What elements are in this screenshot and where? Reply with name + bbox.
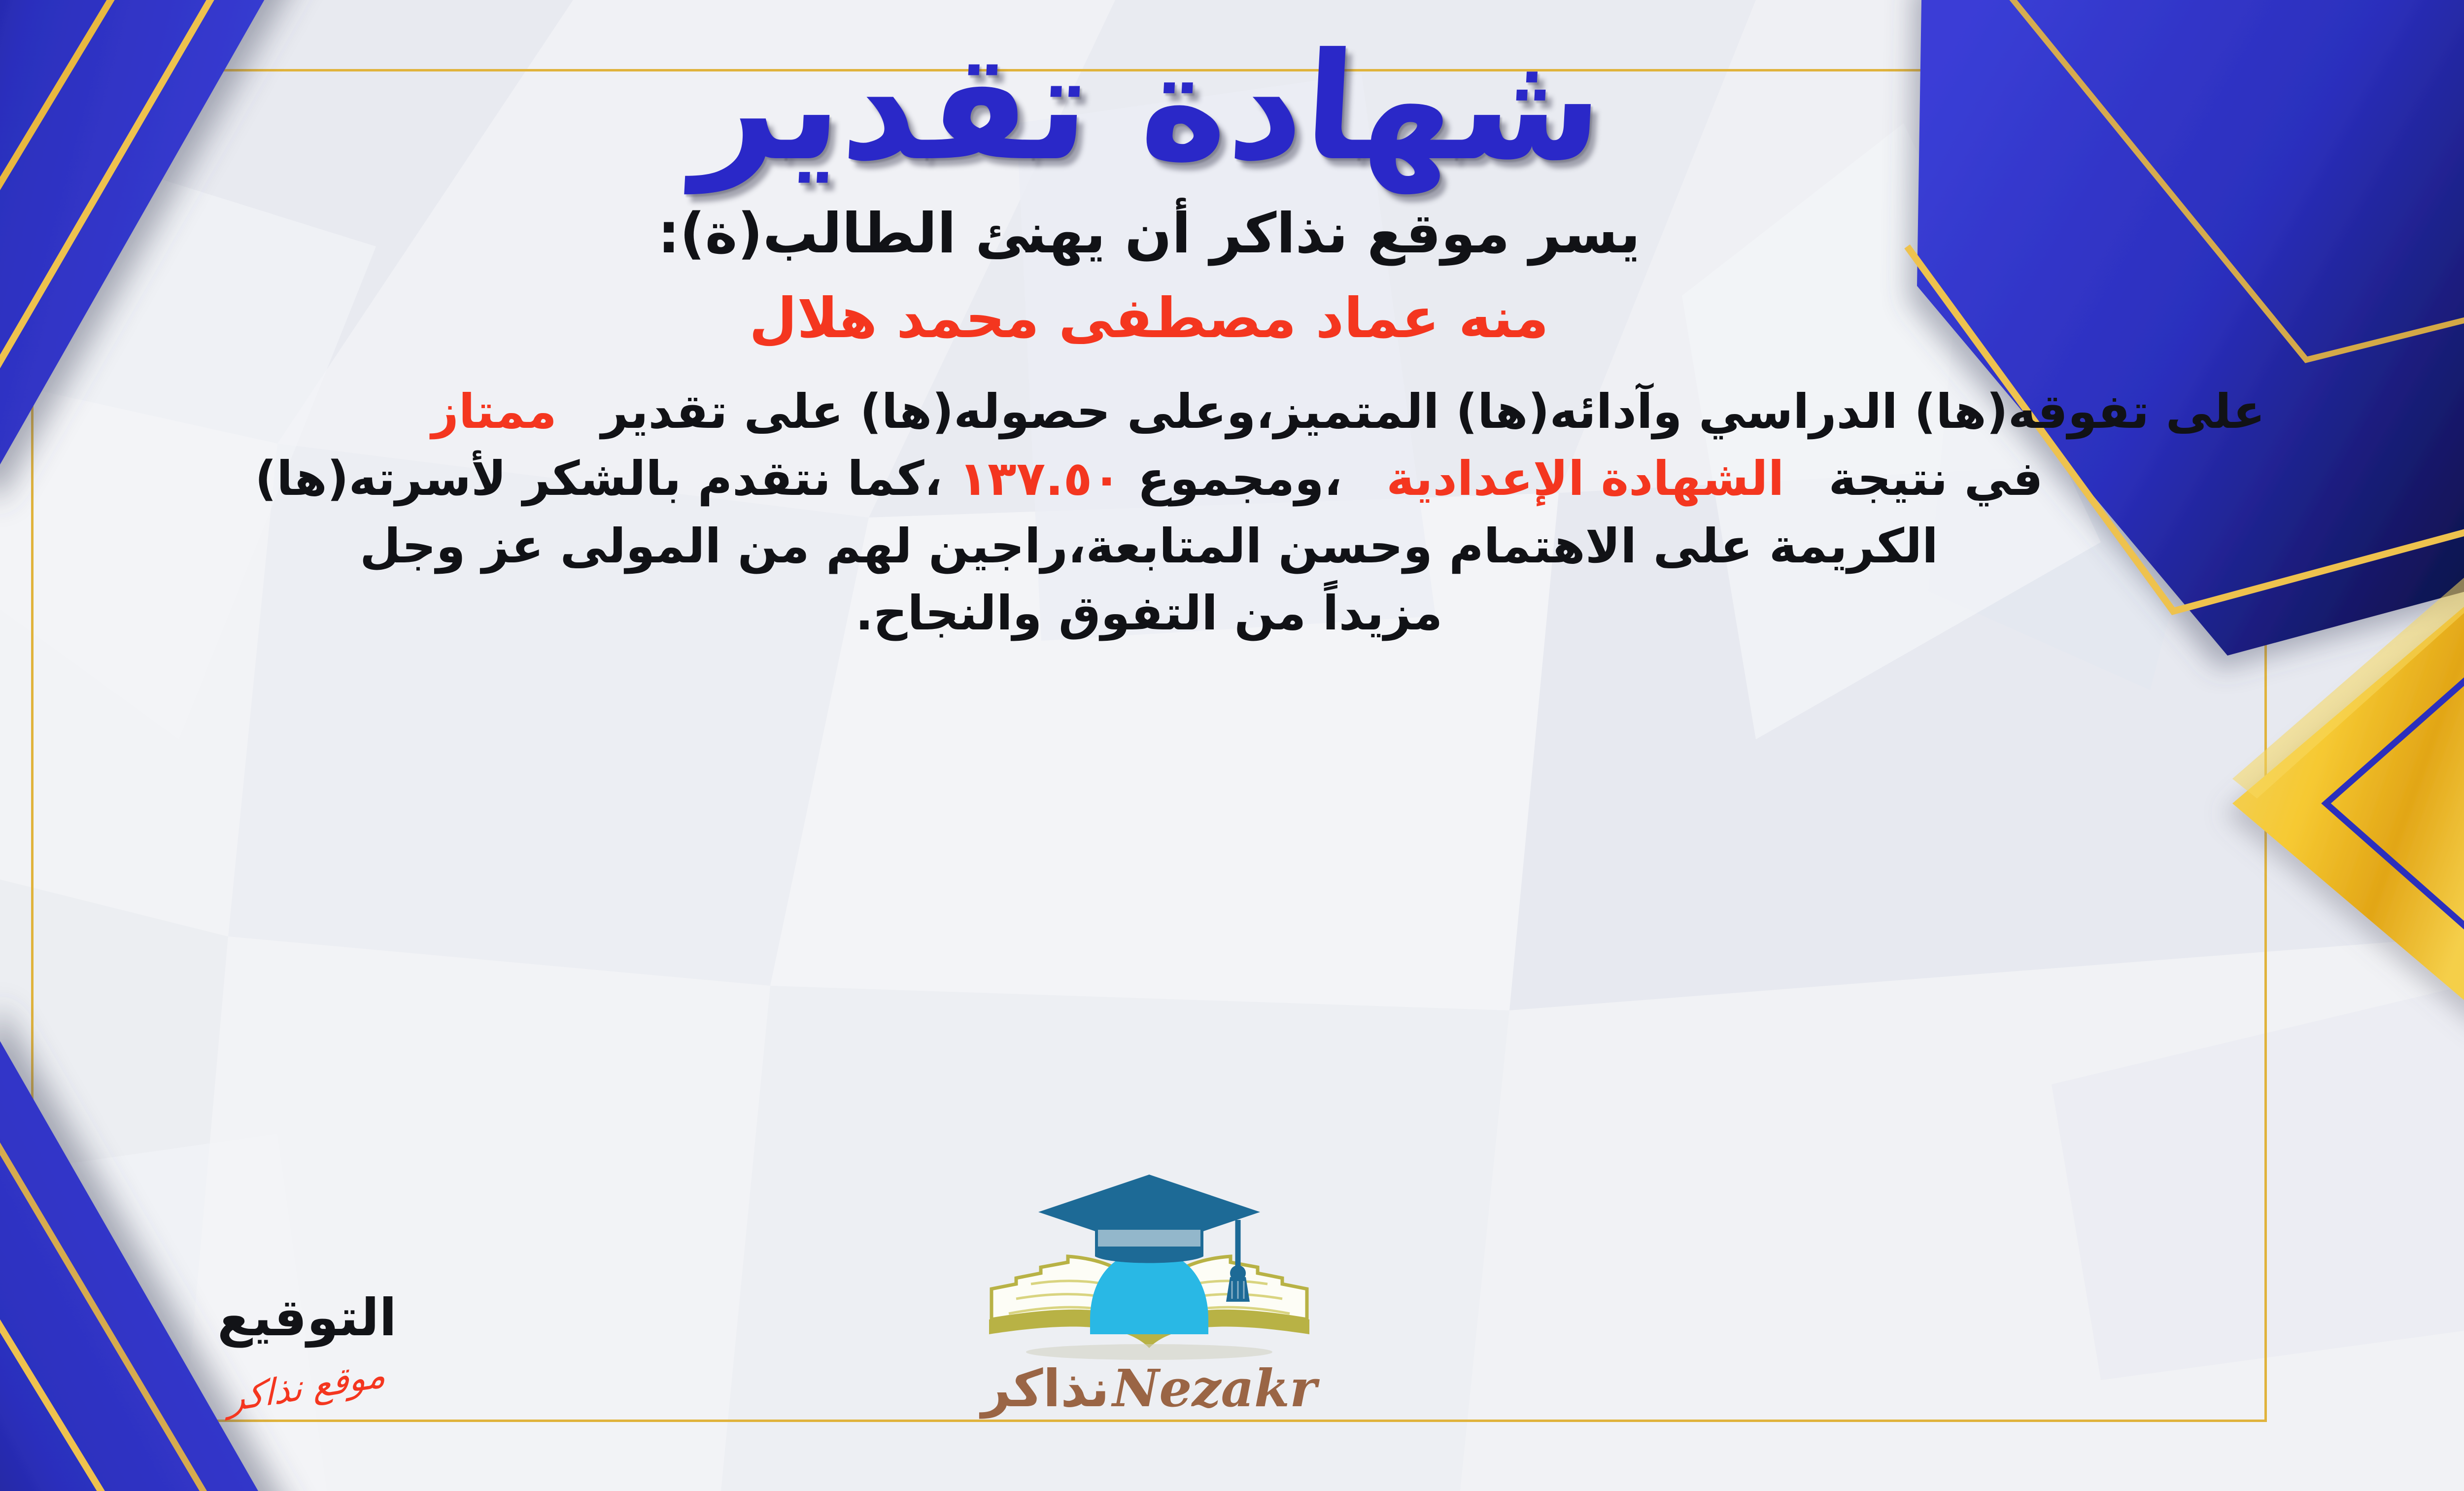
body-line-2-prefix: في نتيجة [1828, 451, 2043, 506]
signature-label: التوقيع [217, 1292, 397, 1343]
body-line-2: في نتيجةالشهادة الإعدادية،ومجموع ١٣٧.٥٠ … [3, 445, 2295, 512]
body-line-4: مزيداً من التفوق والنجاح. [3, 580, 2295, 647]
brand-logo: Nezakr نذاكر [962, 1172, 1336, 1414]
student-name: منه عماد مصطفى محمد هلال [749, 286, 1549, 350]
certificate-canvas: شهادة تقدير يسر موقع نذاكر أن يهنئ الطال… [0, 0, 2464, 1491]
body-line-1-text: على تفوقه(ها) الدراسي وآدائه(ها) المتميز… [601, 384, 2265, 439]
body-line-1: على تفوقه(ها) الدراسي وآدائه(ها) المتميز… [3, 378, 2295, 445]
body-line-2-suffix: ،كما نتقدم بالشكر لأسرته(ها) [255, 451, 942, 506]
page-title: شهادة تقدير [691, 30, 1607, 185]
certificate-footer: التوقيع موقع نذاكر [0, 1172, 2464, 1417]
logo-wordmark: Nezakr نذاكر [981, 1363, 1316, 1414]
signature-script: موقع نذاكر [228, 1353, 386, 1420]
graduation-book-logo-icon [962, 1172, 1336, 1369]
exam-name: الشهادة الإعدادية [1386, 451, 1784, 506]
total-score: ١٣٧.٥٠ [958, 451, 1121, 506]
grade-value: ممتاز [431, 384, 556, 439]
body-line-3: الكريمة على الاهتمام وحسن المتابعة،راجين… [3, 513, 2295, 580]
signature-block: التوقيع موقع نذاكر [179, 1292, 435, 1407]
body-line-2-mid: ،ومجموع [1137, 451, 1342, 506]
logo-word-en: Nezakr [1112, 1363, 1317, 1414]
intro-line: يسر موقع نذاكر أن يهنئ الطالب(ة): [658, 202, 1641, 266]
logo-word-ar: نذاكر [981, 1363, 1109, 1414]
certificate-body: على تفوقه(ها) الدراسي وآدائه(ها) المتميز… [3, 378, 2295, 647]
